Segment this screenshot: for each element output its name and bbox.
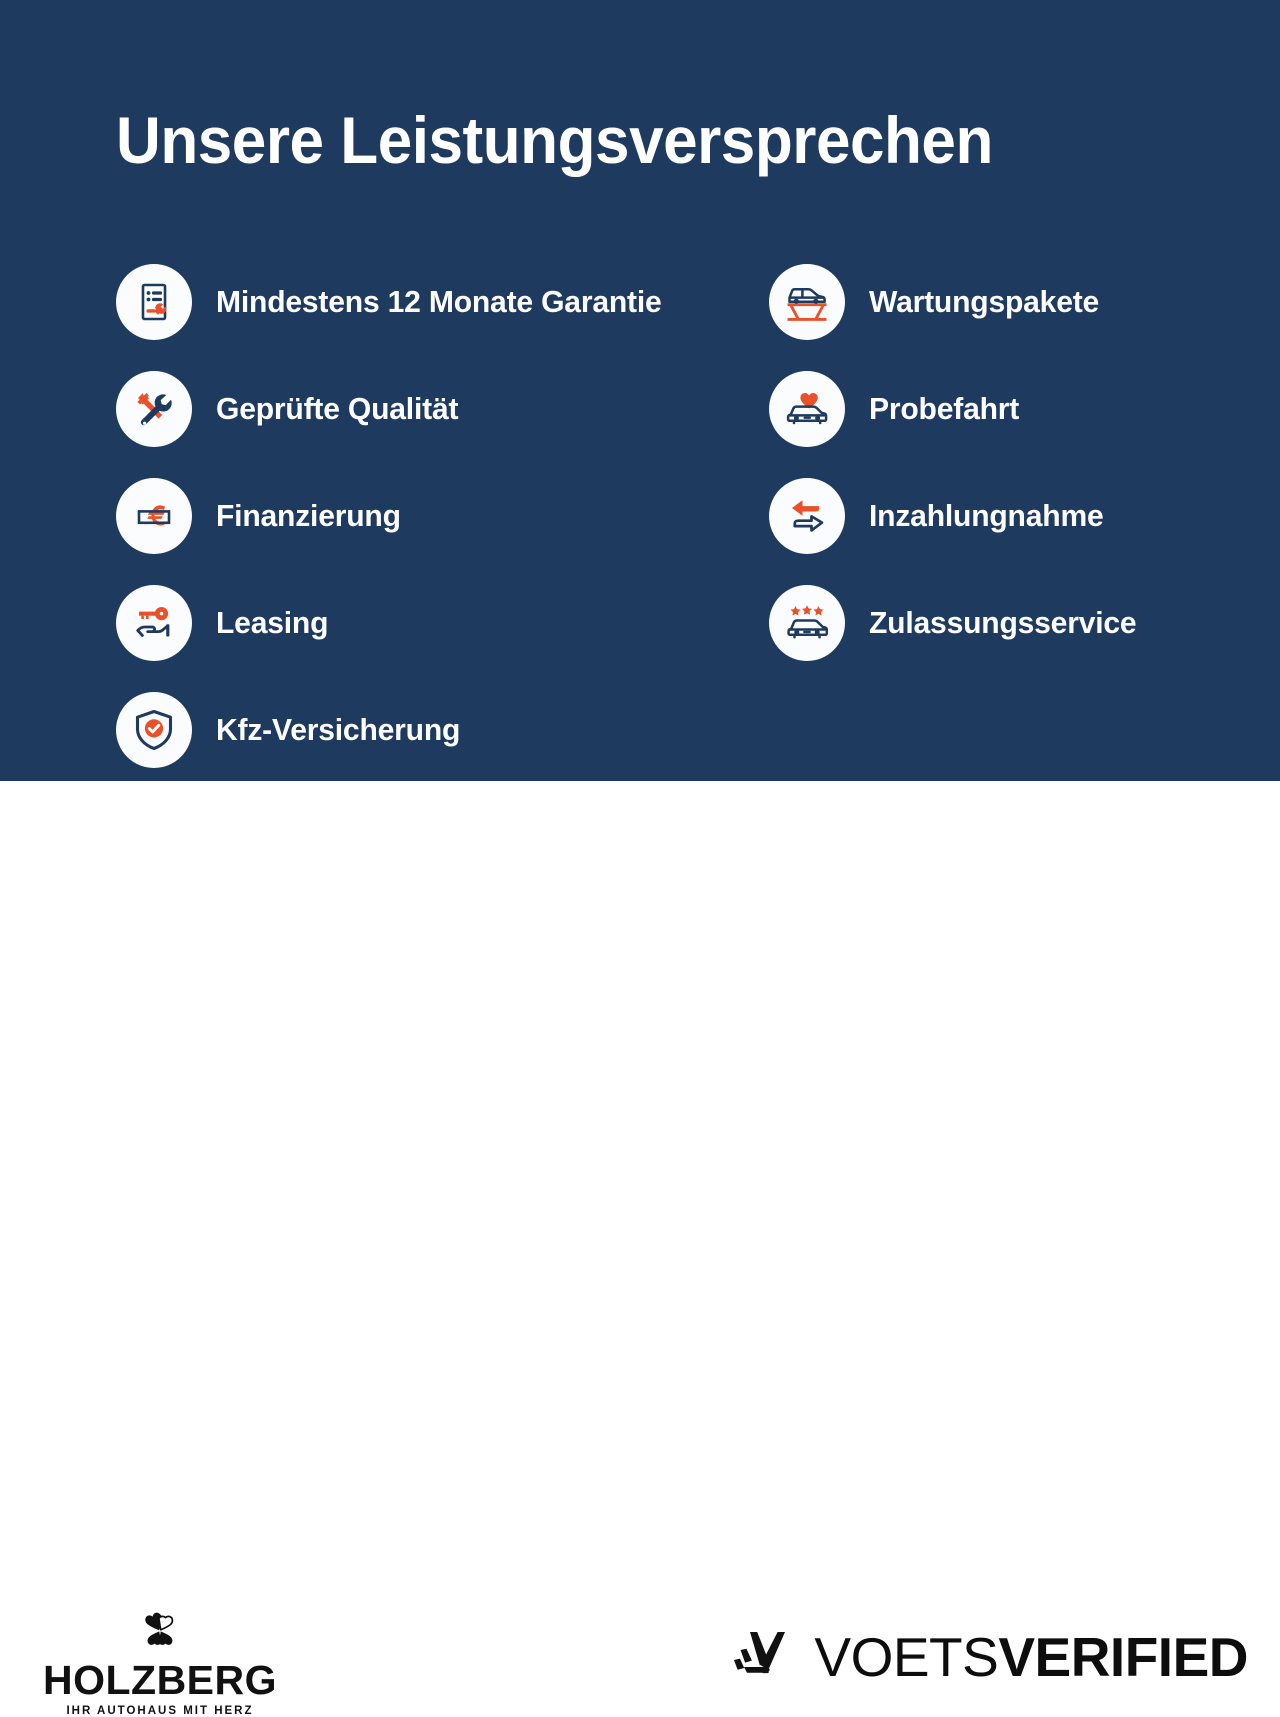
- feature-item-versicherung[interactable]: Kfz-Versicherung: [116, 676, 756, 783]
- feature-label: Finanzierung: [216, 498, 401, 534]
- feature-label: Kfz-Versicherung: [216, 712, 460, 748]
- feature-label: Leasing: [216, 605, 328, 641]
- car-stars-icon: [769, 585, 845, 661]
- feature-item-finanzierung[interactable]: Finanzierung: [116, 462, 756, 569]
- feature-label: Mindestens 12 Monate Garantie: [216, 284, 662, 320]
- feature-item-probefahrt[interactable]: Probefahrt: [769, 355, 1229, 462]
- feature-item-inzahlungnahme[interactable]: Inzahlungnahme: [769, 462, 1229, 569]
- feature-label: Zulassungsservice: [869, 605, 1136, 641]
- feature-item-wartungspakete[interactable]: Wartungspakete: [769, 248, 1229, 355]
- car-lift-icon: [769, 264, 845, 340]
- feature-label: Probefahrt: [869, 391, 1019, 427]
- features-column-left: Mindestens 12 Monate Garantie: [116, 248, 756, 783]
- holzberg-tagline: IHR AUTOHAUS MIT HERZ: [66, 1705, 253, 1717]
- feature-item-qualitaet[interactable]: Geprüfte Qualität: [116, 355, 756, 462]
- footer-section: HOLZBERG IHR AUTOHAUS MIT HERZ VOETSVERI…: [0, 781, 1280, 960]
- feature-item-leasing[interactable]: Leasing: [116, 569, 756, 676]
- voets-verified-logo[interactable]: VOETSVERIFIED: [730, 1626, 1248, 1687]
- voets-check-mark-icon: [730, 1626, 790, 1687]
- voets-wordmark-light: VOETS: [814, 1626, 998, 1688]
- holzberg-wordmark: HOLZBERG: [43, 1659, 277, 1701]
- hand-key-icon: [116, 585, 192, 661]
- page-title: Unsere Leistungsversprechen: [116, 104, 993, 176]
- clover-hearts-icon: [138, 1611, 182, 1656]
- document-wrench-icon: [116, 264, 192, 340]
- feature-item-zulassungsservice[interactable]: Zulassungsservice: [769, 569, 1229, 676]
- banknote-euro-icon: [116, 478, 192, 554]
- feature-label: Geprüfte Qualität: [216, 391, 458, 427]
- features-columns: Mindestens 12 Monate Garantie: [0, 248, 1280, 783]
- wrench-screwdriver-icon: [116, 371, 192, 447]
- feature-label: Inzahlungnahme: [869, 498, 1104, 534]
- features-column-right: Wartungspakete: [769, 248, 1229, 783]
- voets-wordmark: VOETSVERIFIED: [814, 1628, 1248, 1686]
- holzberg-logo[interactable]: HOLZBERG IHR AUTOHAUS MIT HERZ: [55, 1611, 265, 1717]
- car-heart-icon: [769, 371, 845, 447]
- feature-label: Wartungspakete: [869, 284, 1099, 320]
- shield-check-icon: [116, 692, 192, 768]
- hero-section: Unsere Leistungsversprechen: [0, 0, 1280, 781]
- exchange-arrows-icon: [769, 478, 845, 554]
- feature-item-garantie[interactable]: Mindestens 12 Monate Garantie: [116, 248, 756, 355]
- service-promises-poster: Unsere Leistungsversprechen: [0, 0, 1280, 960]
- voets-wordmark-bold: VERIFIED: [998, 1626, 1248, 1688]
